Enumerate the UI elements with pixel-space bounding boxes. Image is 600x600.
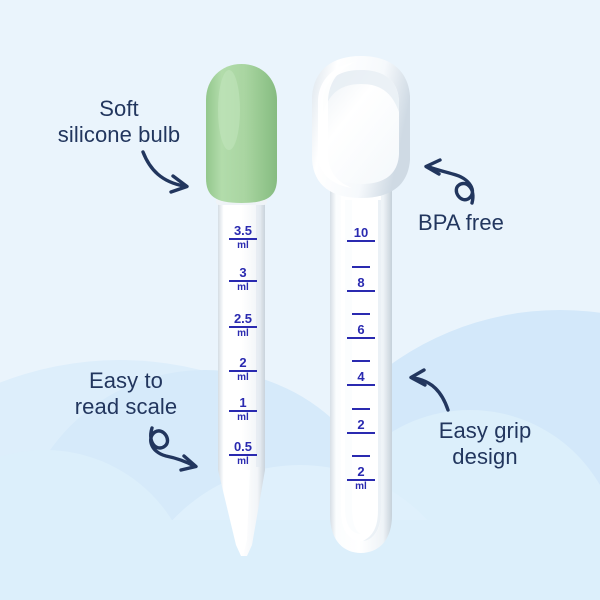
callout-soft-silicone-bulb: Soft silicone bulb: [35, 96, 203, 148]
callout-bpa-free: BPA free: [418, 210, 568, 236]
arrow-soft-bulb: [143, 152, 187, 192]
callout-easy-to-read-scale: Easy to read scale: [42, 368, 210, 420]
infographic-canvas: 3.5 ml 3 ml 2.5 ml 2 ml 1 ml 0.5 ml: [0, 0, 600, 600]
callout-arrows: [0, 0, 600, 600]
arrow-bpa-free: [426, 160, 473, 203]
arrow-easy-read: [151, 428, 196, 470]
callout-easy-grip-design: Easy grip design: [405, 418, 565, 470]
arrow-easy-grip: [411, 370, 448, 410]
